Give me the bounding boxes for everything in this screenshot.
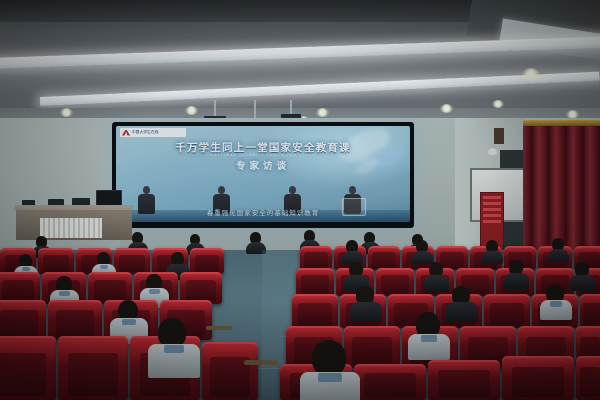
torso	[504, 273, 529, 289]
downlight	[60, 108, 73, 117]
torso	[350, 302, 382, 322]
notice-row	[483, 196, 501, 199]
torso	[548, 249, 569, 262]
torso	[424, 275, 449, 291]
auditorium-seat	[190, 248, 224, 274]
head	[312, 340, 346, 376]
broadcast-logo: 中国大学生在线	[120, 128, 186, 137]
auditorium-seat	[292, 294, 338, 328]
downlight	[440, 104, 453, 113]
shirt-collar	[164, 345, 184, 353]
auditorium-seat	[580, 294, 600, 328]
auditorium-seat	[202, 342, 258, 400]
torso	[446, 302, 478, 322]
panelist-head	[218, 186, 225, 194]
broadcast-caption: 着重强化国家安全的基础知识教育	[116, 207, 410, 217]
auditorium-seat	[48, 300, 102, 340]
broadcast-subtitle: 专家访谈	[116, 158, 410, 172]
auditorium-seat	[0, 336, 56, 400]
panelist-head	[349, 186, 356, 194]
curtain-rod	[523, 120, 600, 126]
shirt-collar	[22, 267, 30, 271]
auditorium-seat	[296, 268, 334, 296]
auditorium-seat	[300, 246, 332, 270]
notice-row	[483, 208, 501, 211]
projection-screen: 中国大学生在线 千万学生同上一堂国家安全教育课 NATIONAL SECURIT…	[116, 126, 410, 222]
projection-screen-frame: 中国大学生在线 千万学生同上一堂国家安全教育课 NATIONAL SECURIT…	[112, 122, 414, 228]
auditorium-seat	[0, 300, 46, 340]
torso	[570, 275, 595, 291]
torso	[412, 251, 433, 264]
auditorium-seat	[344, 326, 400, 368]
seat-armrest	[206, 326, 232, 330]
auditorium-seat	[502, 356, 574, 400]
auditorium-seat	[114, 248, 150, 274]
shirt-collar	[421, 335, 437, 342]
auditorium-seat	[354, 364, 426, 400]
mountain-logo-mark	[122, 130, 130, 136]
auditorium-seat	[576, 356, 600, 400]
wall-radiator	[40, 218, 102, 238]
notice-row	[483, 202, 501, 205]
wall-speaker	[494, 128, 504, 144]
shirt-collar	[318, 373, 342, 382]
broadcast-logo-text: 中国大学生在线	[132, 130, 159, 135]
shirt-collar	[550, 301, 562, 307]
notice-row	[483, 214, 501, 217]
auditorium-seat	[428, 360, 500, 400]
notice-row	[483, 220, 501, 223]
auditorium-seat	[58, 336, 128, 400]
auditorium-seat	[484, 294, 530, 328]
auditorium-seat	[368, 246, 400, 270]
torso	[482, 251, 503, 264]
shirt-collar	[149, 289, 160, 294]
ceiling	[0, 0, 600, 120]
auditorium-seat	[376, 268, 414, 296]
auditorium-seat	[38, 248, 74, 274]
panelist-head	[289, 186, 296, 194]
shirt-collar	[59, 291, 70, 296]
downlight	[492, 100, 504, 108]
downlight	[185, 106, 198, 115]
downlight	[316, 108, 329, 117]
panelist-head	[143, 186, 150, 194]
dome-security-camera	[488, 148, 497, 155]
shirt-collar	[100, 265, 108, 269]
broadcast-subtitle-latin: NATIONAL SECURITY EDUCATION CLASS	[116, 153, 410, 157]
auditorium-photo: 中国大学生在线 千万学生同上一堂国家安全教育课 NATIONAL SECURIT…	[0, 0, 600, 400]
shirt-collar	[122, 319, 136, 325]
downlight	[522, 68, 540, 81]
